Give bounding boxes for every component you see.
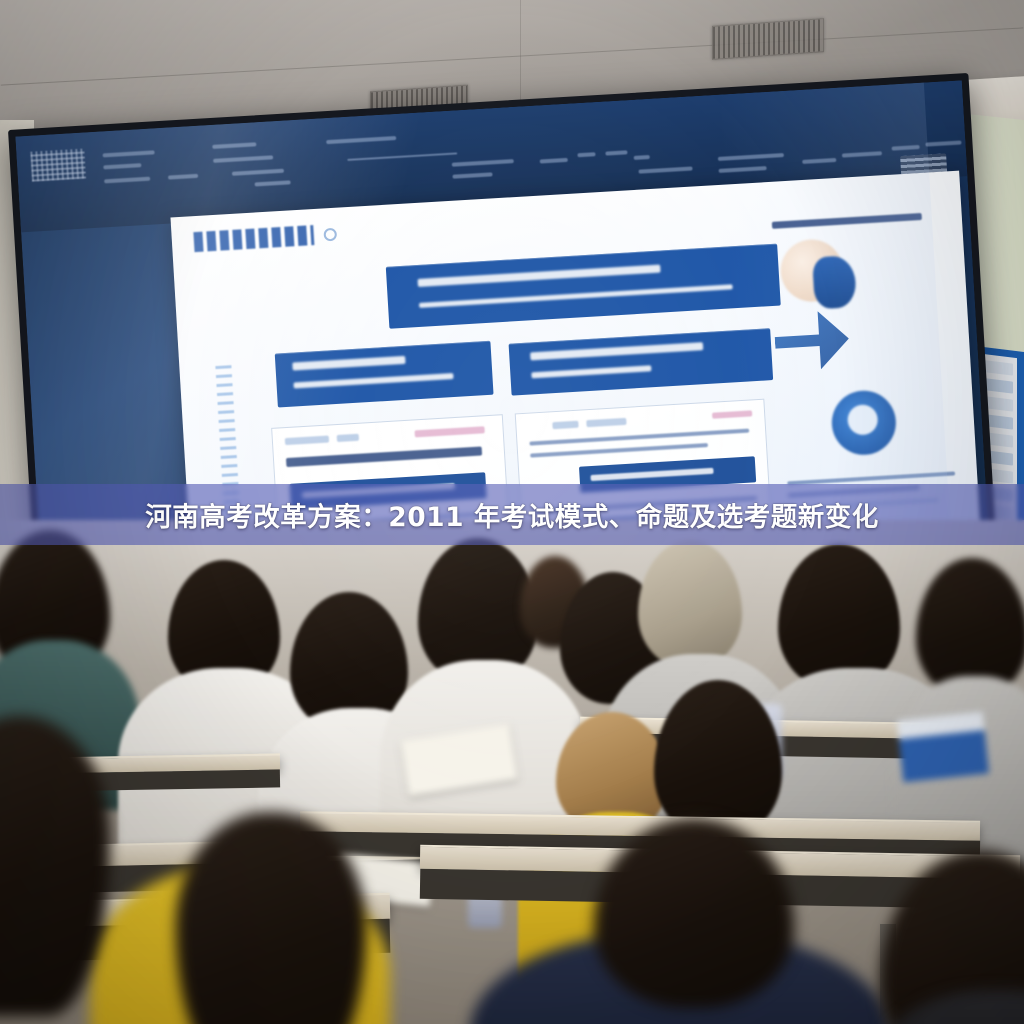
slide-decoration [812, 255, 857, 309]
screenshot-canvas: 河南高考改革方案：2011 年考试模式、命题及选考题新变化 [0, 0, 1024, 1024]
person-head [176, 812, 366, 1024]
slide-header-left [275, 341, 494, 408]
caption-banner: 河南高考改革方案：2011 年考试模式、命题及选考题新变化 [0, 484, 1024, 545]
book [897, 712, 989, 783]
slide-header-main [386, 244, 781, 329]
slide-arrow-icon [773, 310, 850, 372]
person-head [638, 540, 742, 668]
classroom-seating [0, 520, 1024, 1024]
caption-title: 河南高考改革方案：2011 年考试模式、命题及选考题新变化 [145, 495, 878, 534]
slide-logo-mark [323, 228, 337, 242]
slide-logo [193, 225, 314, 252]
ceiling-seam [1, 27, 1023, 85]
ceiling-vent-icon [712, 18, 824, 60]
slide-header-right [509, 328, 774, 395]
